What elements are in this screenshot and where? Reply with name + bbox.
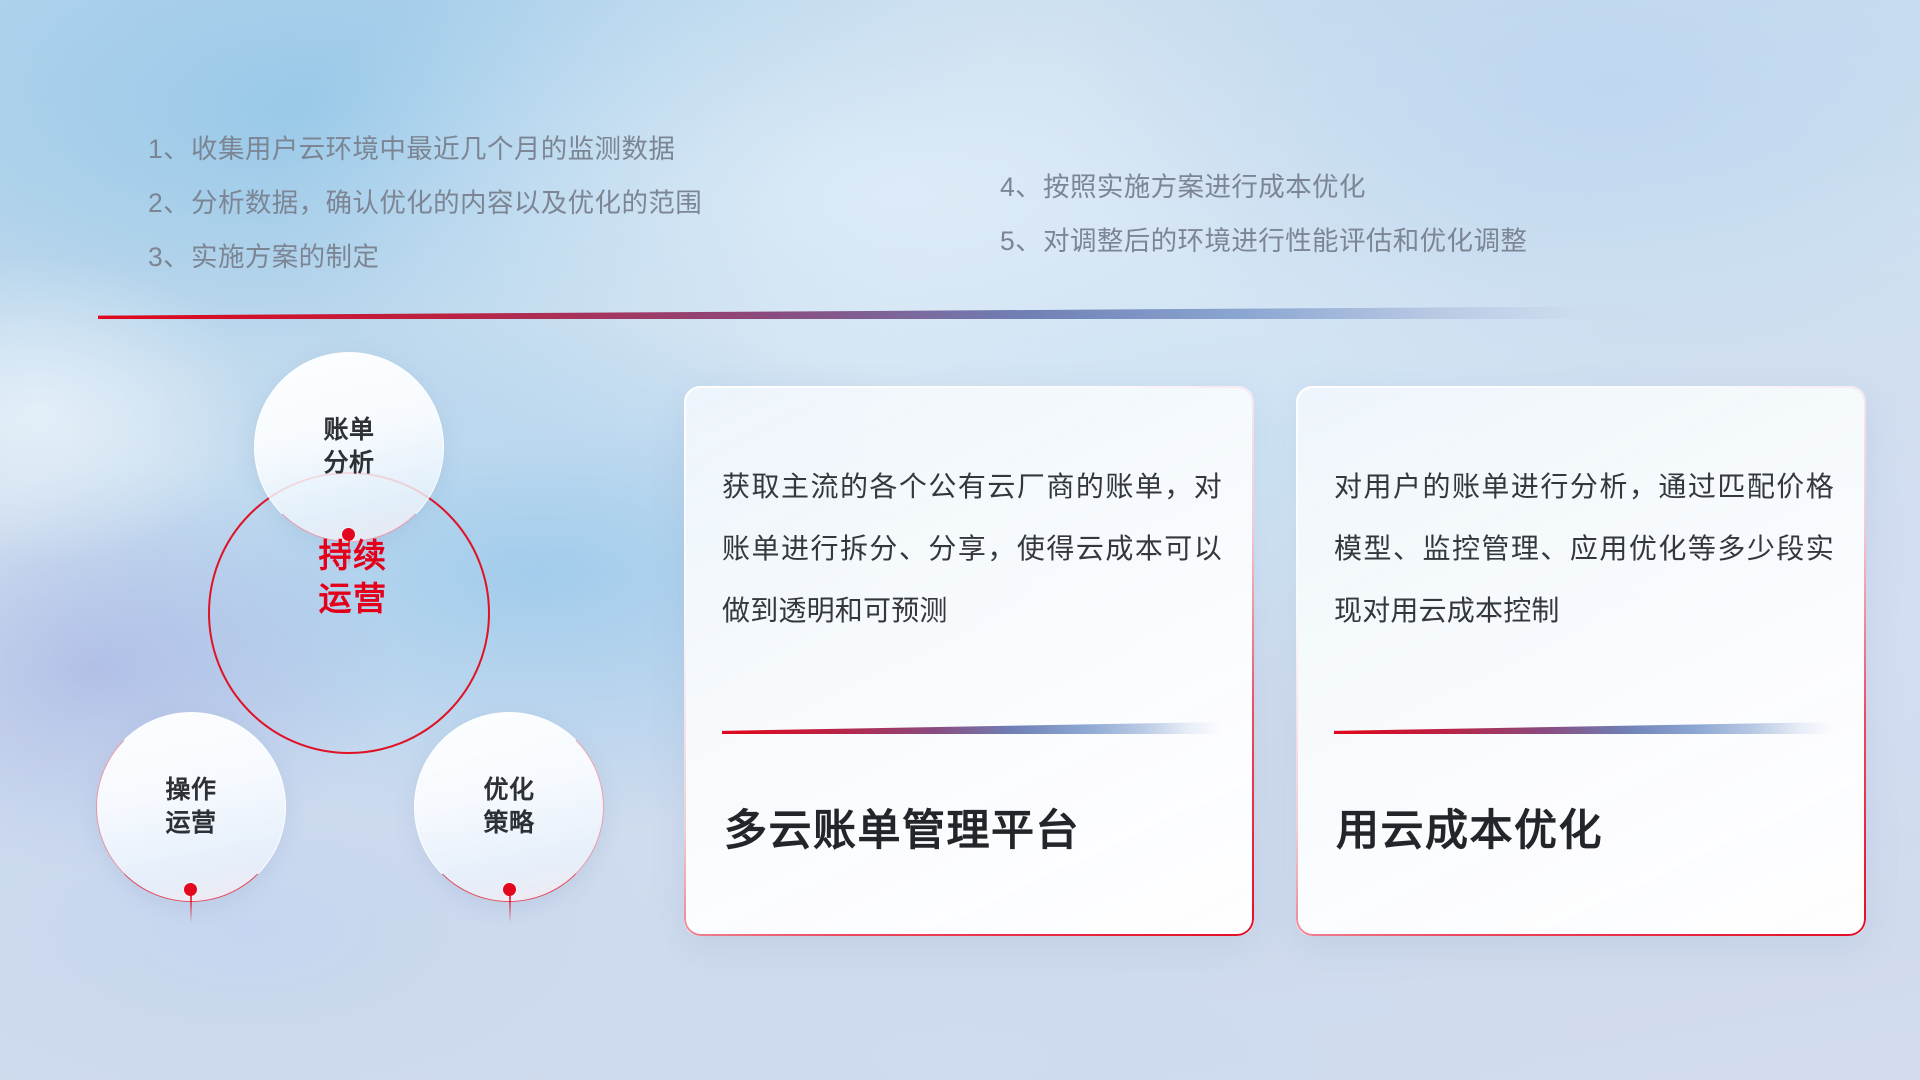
steps-right-column: 4、 按照实施方案进行成本优化 5、 对调整后的环境进行性能评估和优化调整 bbox=[1000, 160, 1527, 268]
diagram-center-label-line1: 持续 bbox=[278, 535, 428, 578]
card-cloud-cost-optimization[interactable]: 对用户的账单进行分析，通过匹配价格模型、监控管理、应用优化等多少段实现对用云成本… bbox=[1296, 386, 1866, 936]
diagram-node-label-line2: 运营 bbox=[165, 807, 216, 840]
card-body-text: 获取主流的各个公有云厂商的账单，对账单进行拆分、分享，使得云成本可以做到透明和可… bbox=[722, 456, 1222, 642]
diagram-node-label-line2: 策略 bbox=[483, 807, 534, 840]
card-divider-line bbox=[722, 722, 1222, 734]
step-text: 对调整后的环境进行性能评估和优化调整 bbox=[1043, 228, 1527, 255]
step-number: 3、 bbox=[148, 244, 190, 271]
step-item: 4、 按照实施方案进行成本优化 bbox=[1000, 160, 1527, 214]
step-text: 收集用户云环境中最近几个月的监测数据 bbox=[191, 136, 675, 163]
step-item: 2、 分析数据，确认优化的内容以及优化的范围 bbox=[148, 176, 702, 230]
step-number: 5、 bbox=[1000, 228, 1042, 255]
diagram-node-operation[interactable]: 操作 运营 bbox=[96, 712, 286, 902]
section-divider-gradient bbox=[98, 306, 1688, 319]
diagram-node-tail-right bbox=[509, 895, 511, 923]
diagram-node-optimization-strategy[interactable]: 优化 策略 bbox=[414, 712, 604, 902]
card-divider-gradient bbox=[1334, 722, 1834, 734]
step-number: 2、 bbox=[148, 190, 190, 217]
diagram-node-label-line1: 操作 bbox=[165, 774, 216, 807]
diagram-node-tail-left bbox=[190, 895, 192, 923]
diagram-center-label-line2: 运营 bbox=[278, 578, 428, 621]
diagram-node-label-line2: 分析 bbox=[323, 447, 374, 480]
step-item: 1、 收集用户云环境中最近几个月的监测数据 bbox=[148, 122, 702, 176]
step-text: 实施方案的制定 bbox=[191, 244, 379, 271]
steps-left-column: 1、 收集用户云环境中最近几个月的监测数据 2、 分析数据，确认优化的内容以及优… bbox=[148, 122, 702, 284]
card-title: 多云账单管理平台 bbox=[724, 806, 1222, 858]
card-title: 用云成本优化 bbox=[1336, 806, 1834, 858]
diagram-center-label: 持续 运营 bbox=[278, 535, 428, 621]
card-multicloud-bill-platform[interactable]: 获取主流的各个公有云厂商的账单，对账单进行拆分、分享，使得云成本可以做到透明和可… bbox=[684, 386, 1254, 936]
card-body-text: 对用户的账单进行分析，通过匹配价格模型、监控管理、应用优化等多少段实现对用云成本… bbox=[1334, 456, 1834, 642]
diagram-node-label-line1: 账单 bbox=[323, 414, 374, 447]
diagram-node-tail-top bbox=[348, 540, 350, 566]
step-text: 按照实施方案进行成本优化 bbox=[1043, 174, 1366, 201]
card-divider-line bbox=[1334, 722, 1834, 734]
step-item: 3、 实施方案的制定 bbox=[148, 230, 702, 284]
continuous-operation-diagram: 账单 分析 操作 运营 优化 策略 持续 运营 bbox=[96, 352, 666, 952]
step-number: 4、 bbox=[1000, 174, 1042, 201]
step-text: 分析数据，确认优化的内容以及优化的范围 bbox=[191, 190, 702, 217]
card-divider-gradient bbox=[722, 722, 1222, 734]
section-divider-line bbox=[98, 306, 1688, 319]
slide-canvas: 1、 收集用户云环境中最近几个月的监测数据 2、 分析数据，确认优化的内容以及优… bbox=[0, 0, 1920, 1080]
step-number: 1、 bbox=[148, 136, 190, 163]
step-item: 5、 对调整后的环境进行性能评估和优化调整 bbox=[1000, 214, 1527, 268]
diagram-node-bill-analysis[interactable]: 账单 分析 bbox=[254, 352, 444, 542]
diagram-node-label-line1: 优化 bbox=[483, 774, 534, 807]
